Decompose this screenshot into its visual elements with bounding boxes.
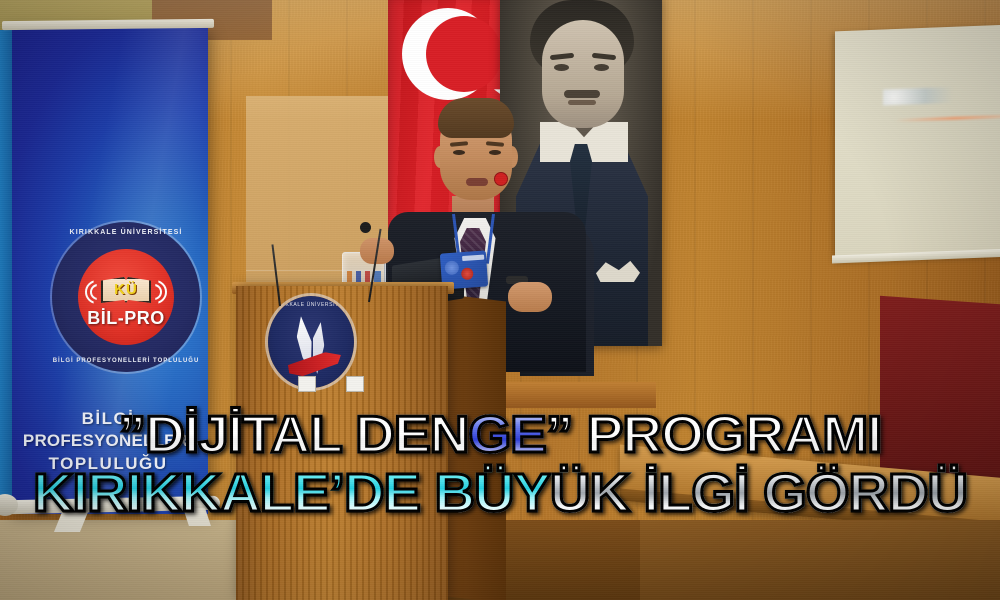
portrait-eye-left bbox=[554, 64, 569, 71]
podium-name-plate-right bbox=[346, 376, 364, 392]
projection-screen bbox=[835, 25, 1000, 262]
floor-right bbox=[640, 520, 1000, 600]
badge-seal-icon bbox=[444, 260, 459, 275]
speaker-hair bbox=[438, 98, 514, 138]
banner-left-edge bbox=[0, 30, 12, 512]
badge-text-block bbox=[462, 255, 484, 262]
portrait-eye-right bbox=[594, 64, 609, 71]
news-photo: ★ bbox=[0, 0, 1000, 600]
logo-monogram: KÜ bbox=[114, 281, 138, 298]
banner-line-1: BİLGİ bbox=[8, 408, 208, 430]
speaker-hand-right bbox=[508, 282, 552, 312]
logo-arc-top-text: KIRIKKALE ÜNİVERSİTESİ bbox=[52, 229, 200, 236]
logo-wordmark: BİL-PRO bbox=[78, 308, 174, 329]
carpet-floor bbox=[0, 520, 236, 600]
university-emblem-podium: KIRIKKALE ÜNİVERSİTESİ bbox=[268, 296, 354, 388]
portrait-face bbox=[542, 20, 624, 128]
podium-side-face bbox=[448, 294, 506, 600]
podium-name-plate-left bbox=[298, 376, 316, 392]
flag-crescent-icon bbox=[402, 8, 494, 100]
portrait-mouth bbox=[568, 100, 596, 105]
projected-logo bbox=[883, 86, 973, 105]
rollup-banner: KIRIKKALE ÜNİVERSİTESİ KÜ BİL-PRO BİLGİ … bbox=[8, 28, 208, 514]
badge-red-seal-icon bbox=[461, 267, 474, 280]
portrait-mustache bbox=[564, 90, 600, 98]
bilpro-logo: KIRIKKALE ÜNİVERSİTESİ KÜ BİL-PRO BİLGİ … bbox=[52, 222, 200, 372]
logo-red-disc: KÜ BİL-PRO bbox=[78, 249, 174, 345]
speaker-eye-left bbox=[453, 150, 465, 155]
banner-line-2: PROFESYONELLERİ bbox=[8, 430, 208, 452]
lapel-flag-pin-icon bbox=[494, 172, 508, 186]
banner-title-block: BİLGİ PROFESYONELLERİ TOPLULUĞU bbox=[8, 408, 208, 475]
banner-line-3: TOPLULUĞU bbox=[8, 453, 208, 475]
speaker-mouth bbox=[466, 178, 488, 186]
projector-light-streak bbox=[895, 114, 1000, 122]
logo-arc-bottom-text: BİLGİ PROFESYONELLERİ TOPLULUĞU bbox=[52, 358, 200, 364]
speaker-eye-right bbox=[489, 150, 501, 155]
microphone-head-icon bbox=[360, 222, 371, 233]
